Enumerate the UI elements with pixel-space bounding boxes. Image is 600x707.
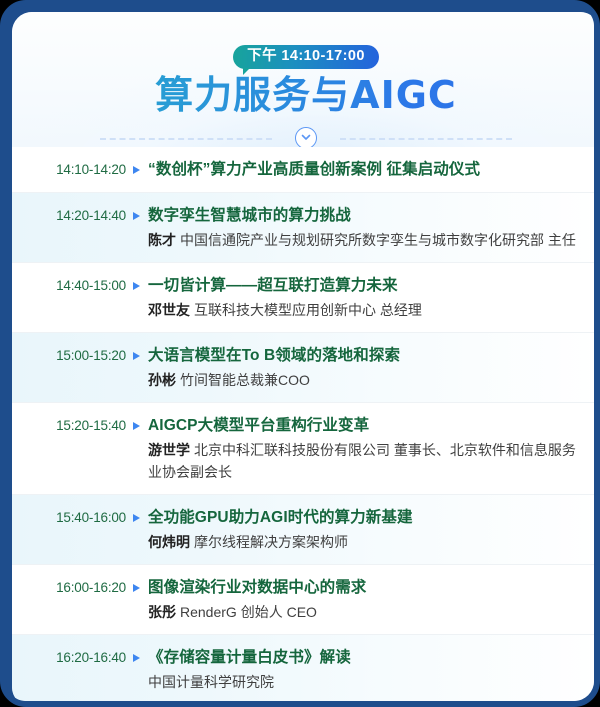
agenda-row-body: 《存储容量计量白皮书》解读中国计量科学研究院 <box>146 646 584 693</box>
agenda-row-time: 14:40-15:00 <box>34 274 126 297</box>
agenda-row-speaker: 何炜明摩尔线程解决方案架构师 <box>148 531 584 553</box>
agenda-row-speaker: 邓世友互联科技大模型应用创新中心 总经理 <box>148 299 584 321</box>
agenda-row-speaker-org: 北京中科汇联科技股份有限公司 董事长、北京软件和信息服务业协会副会长 <box>148 442 576 480</box>
session-time-badge: 下午 14:10-17:00 <box>233 45 379 69</box>
play-triangle-shape <box>133 514 140 522</box>
agenda-row-time: 16:00-16:20 <box>34 576 126 599</box>
agenda-row-speaker-name: 张彤 <box>148 604 176 620</box>
agenda-row-title: AIGCP大模型平台重构行业变革 <box>148 414 584 437</box>
agenda-row[interactable]: 15:20-15:40AIGCP大模型平台重构行业变革游世学北京中科汇联科技股份… <box>12 403 600 495</box>
play-triangle-icon <box>126 158 146 174</box>
play-triangle-icon <box>126 414 146 430</box>
header-divider <box>40 127 572 149</box>
agenda-row-time: 15:20-15:40 <box>34 414 126 437</box>
agenda-row-speaker-name: 陈才 <box>148 232 176 248</box>
agenda-row-body: “数创杯”算力产业高质量创新案例 征集启动仪式 <box>146 158 584 181</box>
chevron-down-icon <box>295 127 317 149</box>
play-triangle-shape <box>133 352 140 360</box>
agenda-row-title: 数字孪生智慧城市的算力挑战 <box>148 204 584 227</box>
agenda-row-body: 一切皆计算——超互联打造算力未来邓世友互联科技大模型应用创新中心 总经理 <box>146 274 584 321</box>
play-triangle-icon <box>126 576 146 592</box>
agenda-list: 14:10-14:20“数创杯”算力产业高质量创新案例 征集启动仪式14:20-… <box>12 147 600 707</box>
agenda-row-title: 全功能GPU助力AGI时代的算力新基建 <box>148 506 584 529</box>
agenda-row[interactable]: 16:00-16:20图像渲染行业对数据中心的需求张彤RenderG 创始人 C… <box>12 565 600 635</box>
agenda-row-speaker-name: 邓世友 <box>148 302 190 318</box>
agenda-row-body: 全功能GPU助力AGI时代的算力新基建何炜明摩尔线程解决方案架构师 <box>146 506 584 553</box>
play-triangle-shape <box>133 422 140 430</box>
agenda-row-speaker-org: 互联科技大模型应用创新中心 总经理 <box>194 302 422 318</box>
play-triangle-shape <box>133 584 140 592</box>
agenda-row-speaker-name: 何炜明 <box>148 534 190 550</box>
play-triangle-icon <box>126 646 146 662</box>
agenda-row-body: 图像渲染行业对数据中心的需求张彤RenderG 创始人 CEO <box>146 576 584 623</box>
agenda-row-time: 14:10-14:20 <box>34 158 126 181</box>
session-time-badge-label: 下午 14:10-17:00 <box>247 48 365 64</box>
agenda-row-time: 15:40-16:00 <box>34 506 126 529</box>
play-triangle-icon <box>126 506 146 522</box>
agenda-row-time: 14:20-14:40 <box>34 204 126 227</box>
agenda-row-speaker-org: 竹间智能总裁兼COO <box>180 372 310 388</box>
agenda-row-speaker: 游世学北京中科汇联科技股份有限公司 董事长、北京软件和信息服务业协会副会长 <box>148 439 584 483</box>
play-triangle-icon <box>126 204 146 220</box>
poster-card: 下午 14:10-17:00 算力服务与AIGC 14:10-14:20“数创杯… <box>12 12 600 707</box>
page-title: 算力服务与AIGC <box>12 72 600 118</box>
play-triangle-shape <box>133 282 140 290</box>
agenda-row-speaker: 陈才中国信通院产业与规划研究所数字孪生与城市数字化研究部 主任 <box>148 229 584 251</box>
agenda-row-speaker: 孙彬竹间智能总裁兼COO <box>148 369 584 391</box>
divider-rule-right <box>340 138 512 140</box>
agenda-row-body: 数字孪生智慧城市的算力挑战陈才中国信通院产业与规划研究所数字孪生与城市数字化研究… <box>146 204 584 251</box>
agenda-row-speaker-org: 中国信通院产业与规划研究所数字孪生与城市数字化研究部 主任 <box>180 232 576 248</box>
agenda-row-speaker-org: 摩尔线程解决方案架构师 <box>194 534 348 550</box>
agenda-row[interactable]: 14:20-14:40数字孪生智慧城市的算力挑战陈才中国信通院产业与规划研究所数… <box>12 193 600 263</box>
agenda-row-body: 大语言模型在To B领域的落地和探索孙彬竹间智能总裁兼COO <box>146 344 584 391</box>
play-triangle-shape <box>133 166 140 174</box>
play-triangle-icon <box>126 274 146 290</box>
agenda-row-time: 15:00-15:20 <box>34 344 126 367</box>
agenda-row[interactable]: 14:10-14:20“数创杯”算力产业高质量创新案例 征集启动仪式 <box>12 147 600 193</box>
divider-rule-left <box>100 138 272 140</box>
agenda-row-title: “数创杯”算力产业高质量创新案例 征集启动仪式 <box>148 158 584 181</box>
agenda-row-title: 图像渲染行业对数据中心的需求 <box>148 576 584 599</box>
agenda-row-title: 《存储容量计量白皮书》解读 <box>148 646 584 669</box>
agenda-row-title: 一切皆计算——超互联打造算力未来 <box>148 274 584 297</box>
agenda-row[interactable]: 14:40-15:00一切皆计算——超互联打造算力未来邓世友互联科技大模型应用创… <box>12 263 600 333</box>
agenda-row-time: 16:20-16:40 <box>34 646 126 669</box>
poster-frame: 下午 14:10-17:00 算力服务与AIGC 14:10-14:20“数创杯… <box>0 0 600 707</box>
poster-header: 下午 14:10-17:00 算力服务与AIGC <box>12 12 600 147</box>
play-triangle-shape <box>133 212 140 220</box>
session-time-badge-wrapper: 下午 14:10-17:00 <box>12 45 600 71</box>
agenda-row[interactable]: 15:00-15:20大语言模型在To B领域的落地和探索孙彬竹间智能总裁兼CO… <box>12 333 600 403</box>
play-triangle-icon <box>126 344 146 360</box>
agenda-row-speaker: 张彤RenderG 创始人 CEO <box>148 601 584 623</box>
agenda-row-speaker: 中国计量科学研究院 <box>148 671 584 693</box>
agenda-row-body: AIGCP大模型平台重构行业变革游世学北京中科汇联科技股份有限公司 董事长、北京… <box>146 414 584 483</box>
agenda-row-title: 大语言模型在To B领域的落地和探索 <box>148 344 584 367</box>
play-triangle-shape <box>133 654 140 662</box>
agenda-row-speaker-name: 孙彬 <box>148 372 176 388</box>
agenda-row-speaker-org: RenderG 创始人 CEO <box>180 604 317 620</box>
agenda-row[interactable]: 15:40-16:00全功能GPU助力AGI时代的算力新基建何炜明摩尔线程解决方… <box>12 495 600 565</box>
agenda-row[interactable]: 16:20-16:40《存储容量计量白皮书》解读中国计量科学研究院 <box>12 635 600 705</box>
agenda-row-speaker-org: 中国计量科学研究院 <box>148 674 274 690</box>
agenda-row-speaker-name: 游世学 <box>148 442 190 458</box>
